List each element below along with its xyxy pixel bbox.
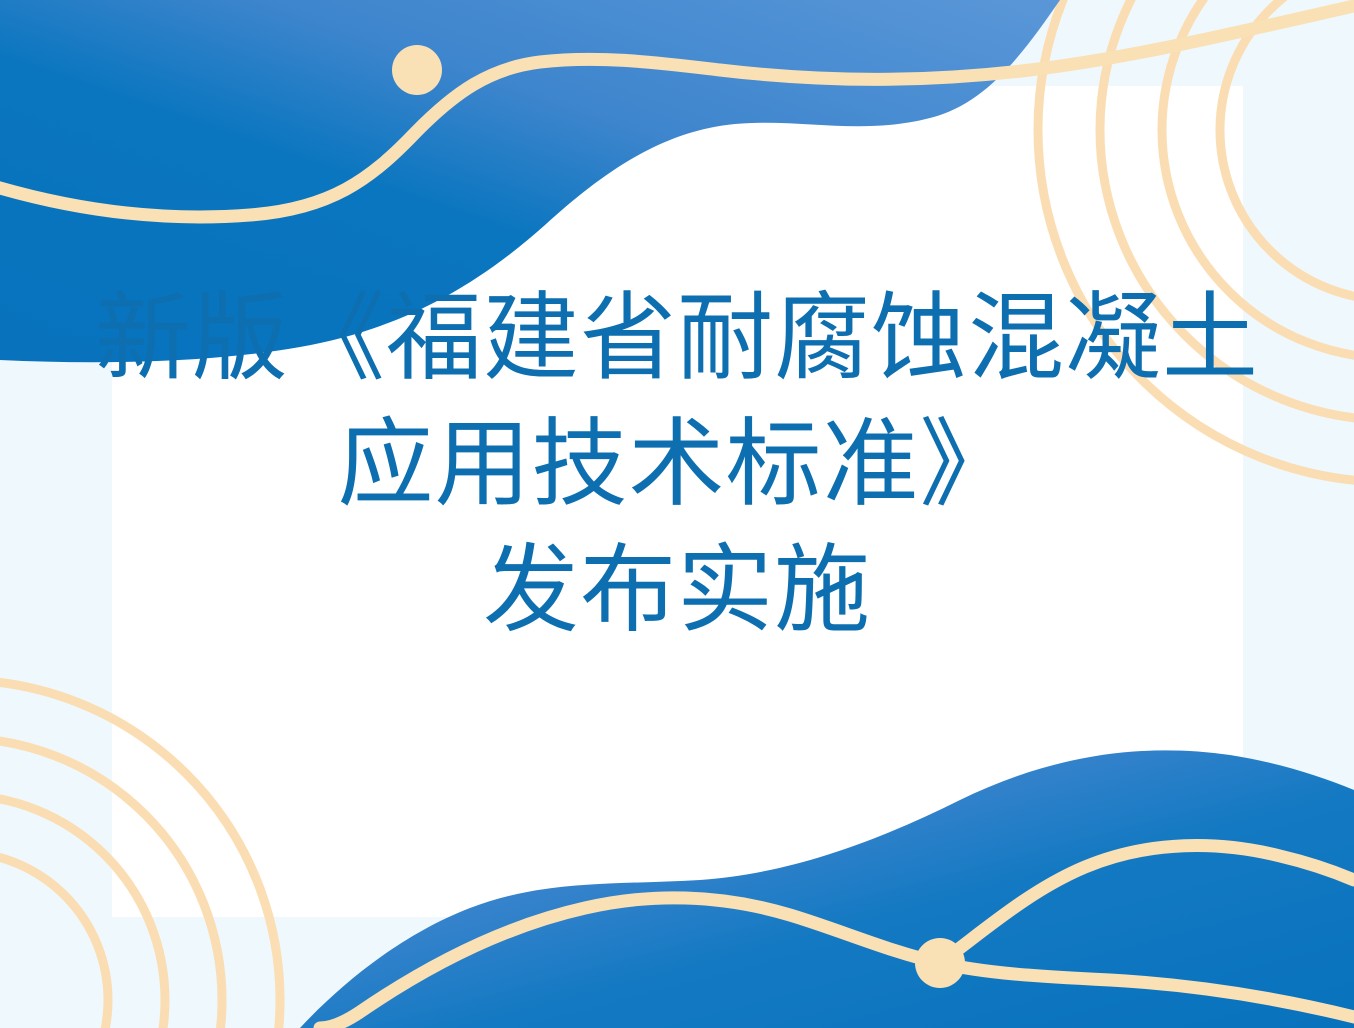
poster-canvas: 新版《福建省耐腐蚀混凝土 应用技术标准》 发布实施: [0, 0, 1354, 1028]
poster-title: 新版《福建省耐腐蚀混凝土 应用技术标准》 发布实施: [0, 276, 1354, 654]
tan-ribbon-curve-bottom: [320, 898, 1354, 1028]
title-line-3: 发布实施: [0, 528, 1354, 654]
tan-dot-bottom: [915, 938, 965, 988]
ring-bottom-left-1: [0, 852, 108, 1028]
title-line-1: 新版《福建省耐腐蚀混凝土: [0, 276, 1354, 402]
title-line-2: 应用技术标准》: [0, 402, 1354, 528]
